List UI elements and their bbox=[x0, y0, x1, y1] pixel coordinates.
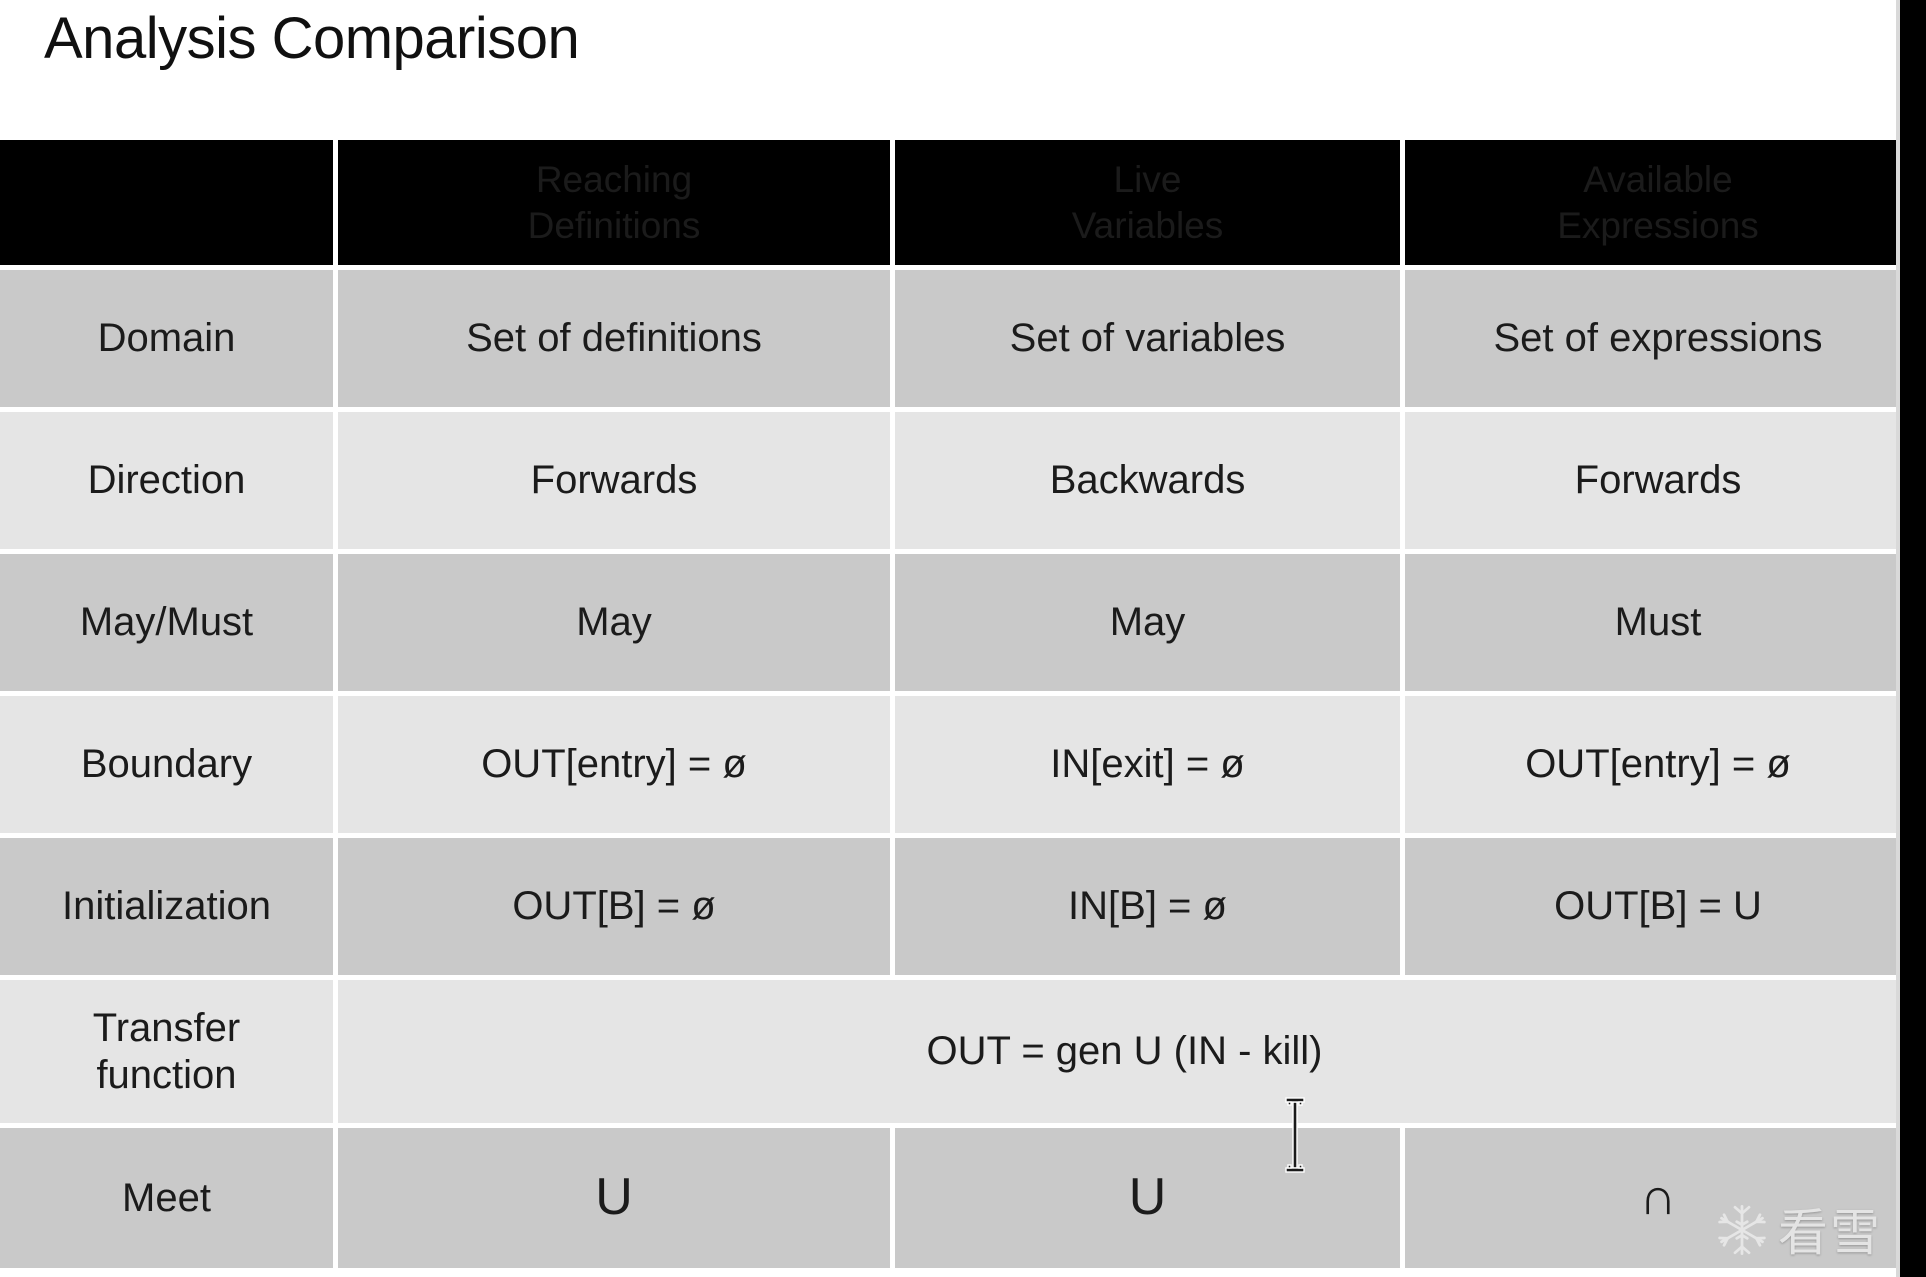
cell-direction-reaching-definitions: Forwards bbox=[338, 412, 895, 554]
table-row-transfer-function: Transfer function OUT = gen U (IN - kill… bbox=[0, 980, 1911, 1128]
cell-domain-live-variables: Set of variables bbox=[895, 270, 1405, 412]
cell-boundary-available-expressions: OUT[entry] = ø bbox=[1405, 696, 1911, 838]
table-header: Reaching Definitions Live Variables Avai… bbox=[0, 140, 1911, 270]
row-label-line-2: function bbox=[0, 1052, 333, 1098]
table-header-row: Reaching Definitions Live Variables Avai… bbox=[0, 140, 1911, 270]
cell-meet-live-variables: U bbox=[895, 1128, 1405, 1273]
header-cell-reaching-definitions: Reaching Definitions bbox=[338, 140, 895, 270]
page-title: Analysis Comparison bbox=[44, 4, 579, 74]
table-row-domain: Domain Set of definitions Set of variabl… bbox=[0, 270, 1911, 412]
cell-may-must-available-expressions: Must bbox=[1405, 554, 1911, 696]
cell-boundary-reaching-definitions: OUT[entry] = ø bbox=[338, 696, 895, 838]
header-line-2: Variables bbox=[895, 203, 1400, 249]
cell-meet-reaching-definitions: U bbox=[338, 1128, 895, 1273]
header-line-2: Expressions bbox=[1405, 203, 1911, 249]
cell-may-must-reaching-definitions: May bbox=[338, 554, 895, 696]
header-cell-available-expressions: Available Expressions bbox=[1405, 140, 1911, 270]
row-label-may-must: May/Must bbox=[0, 554, 338, 696]
cell-initialization-available-expressions: OUT[B] = U bbox=[1405, 838, 1911, 980]
table-row-initialization: Initialization OUT[B] = ø IN[B] = ø OUT[… bbox=[0, 838, 1911, 980]
slide-canvas: Analysis Comparison Reaching Definitions… bbox=[0, 0, 1926, 1277]
cell-direction-available-expressions: Forwards bbox=[1405, 412, 1911, 554]
header-line-2: Definitions bbox=[338, 203, 890, 249]
table-row-direction: Direction Forwards Backwards Forwards bbox=[0, 412, 1911, 554]
cell-domain-available-expressions: Set of expressions bbox=[1405, 270, 1911, 412]
cell-initialization-live-variables: IN[B] = ø bbox=[895, 838, 1405, 980]
table-row-may-must: May/Must May May Must bbox=[0, 554, 1911, 696]
cell-meet-available-expressions: ∩ bbox=[1405, 1128, 1911, 1273]
row-label-domain: Domain bbox=[0, 270, 338, 412]
header-line-1: Available bbox=[1405, 157, 1911, 203]
row-label-boundary: Boundary bbox=[0, 696, 338, 838]
row-label-transfer-function: Transfer function bbox=[0, 980, 338, 1128]
cell-transfer-function-merged: OUT = gen U (IN - kill) bbox=[338, 980, 1911, 1128]
analysis-comparison-table: Reaching Definitions Live Variables Avai… bbox=[0, 140, 1911, 1273]
header-line-1: Live bbox=[895, 157, 1400, 203]
header-line-1: Reaching bbox=[338, 157, 890, 203]
row-label-direction: Direction bbox=[0, 412, 338, 554]
table-body: Domain Set of definitions Set of variabl… bbox=[0, 270, 1911, 1273]
cell-boundary-live-variables: IN[exit] = ø bbox=[895, 696, 1405, 838]
cell-may-must-live-variables: May bbox=[895, 554, 1405, 696]
row-label-initialization: Initialization bbox=[0, 838, 338, 980]
header-cell-live-variables: Live Variables bbox=[895, 140, 1405, 270]
table-row-meet: Meet U U ∩ bbox=[0, 1128, 1911, 1273]
row-label-meet: Meet bbox=[0, 1128, 338, 1273]
header-cell-rowlabels bbox=[0, 140, 338, 270]
row-label-line-1: Transfer bbox=[0, 1005, 333, 1051]
right-bezel bbox=[1900, 0, 1926, 1277]
table-row-boundary: Boundary OUT[entry] = ø IN[exit] = ø OUT… bbox=[0, 696, 1911, 838]
cell-direction-live-variables: Backwards bbox=[895, 412, 1405, 554]
cell-domain-reaching-definitions: Set of definitions bbox=[338, 270, 895, 412]
cell-initialization-reaching-definitions: OUT[B] = ø bbox=[338, 838, 895, 980]
